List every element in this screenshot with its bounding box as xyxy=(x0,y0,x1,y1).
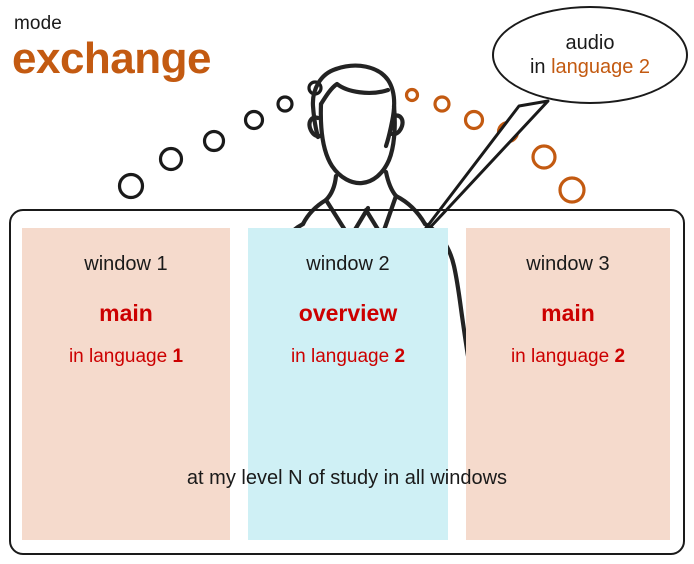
window-3-language-prefix: in language xyxy=(511,346,615,367)
window-1-kind: main xyxy=(22,302,230,325)
audio-speech-bubble: audio in language 2 xyxy=(492,6,688,104)
window-3-language: in language 2 xyxy=(466,347,670,366)
bubble-line-language: in language 2 xyxy=(530,55,650,79)
diagram-canvas: mode exchange xyxy=(0,0,694,564)
bubble-line-accent: language 2 xyxy=(551,56,650,78)
level-note: at my level N of study in all windows xyxy=(0,468,694,488)
window-3-title: window 3 xyxy=(466,254,670,274)
window-3-language-number: 2 xyxy=(614,346,625,367)
window-1-language: in language 1 xyxy=(22,347,230,366)
window-2-kind: overview xyxy=(248,302,448,325)
black-circle-trail xyxy=(120,82,322,198)
mode-label: mode xyxy=(14,14,62,33)
window-panel-3[interactable]: window 3 main in language 2 xyxy=(466,228,670,540)
window-2-language: in language 2 xyxy=(248,347,448,366)
window-2-title: window 2 xyxy=(248,254,448,274)
bubble-line-prefix: in xyxy=(530,56,551,78)
window-panel-1[interactable]: window 1 main in language 1 xyxy=(22,228,230,540)
window-2-language-prefix: in language xyxy=(291,346,395,367)
window-1-language-number: 1 xyxy=(172,346,183,367)
window-2-language-number: 2 xyxy=(394,346,405,367)
window-3-kind: main xyxy=(466,302,670,325)
window-panel-2[interactable]: window 2 overview in language 2 xyxy=(248,228,448,540)
window-1-language-prefix: in language xyxy=(69,346,173,367)
bubble-line-audio: audio xyxy=(566,31,615,55)
window-1-title: window 1 xyxy=(22,254,230,274)
orange-circle-trail xyxy=(407,90,585,203)
mode-title: exchange xyxy=(12,37,211,81)
